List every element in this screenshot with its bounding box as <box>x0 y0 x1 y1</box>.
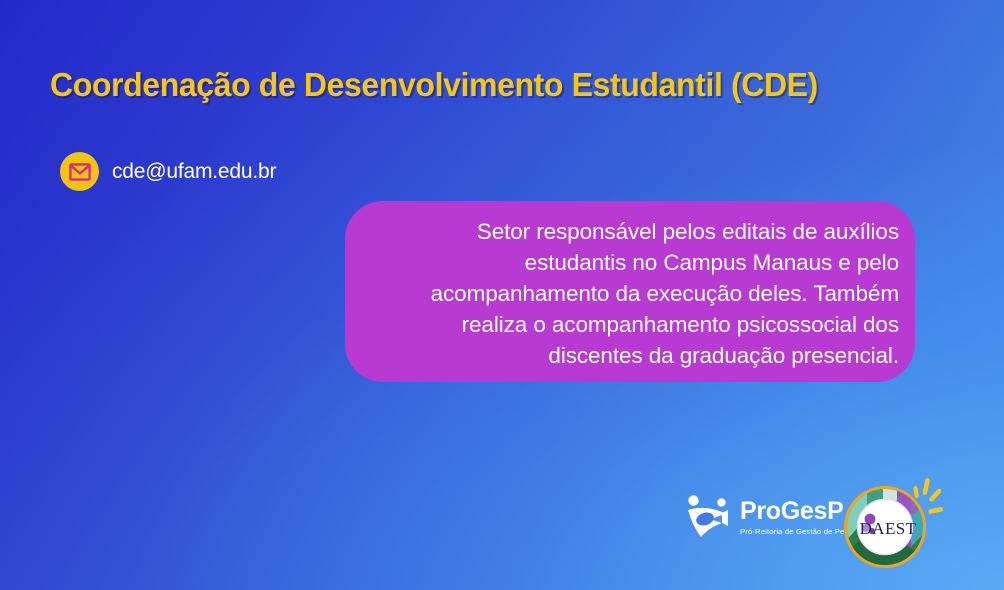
contact-email-row: cde@ufam.edu.br <box>60 152 276 191</box>
daest-logo: DAEST <box>838 470 946 575</box>
description-card: Setor responsável pelos editais de auxíl… <box>345 201 915 382</box>
progesp-people-mark-icon <box>681 493 733 541</box>
daest-name: DAEST <box>860 519 917 538</box>
contact-email-text: cde@ufam.edu.br <box>112 160 276 184</box>
slide-canvas: Coordenação de Desenvolvimento Estudanti… <box>0 0 1004 590</box>
progesp-logo: ProGesP Pró-Reitoria de Gestão de Pessoa… <box>681 493 863 541</box>
envelope-icon <box>60 152 99 191</box>
description-text: Setor responsável pelos editais de auxíl… <box>371 216 899 371</box>
page-title: Coordenação de Desenvolvimento Estudanti… <box>50 66 818 104</box>
